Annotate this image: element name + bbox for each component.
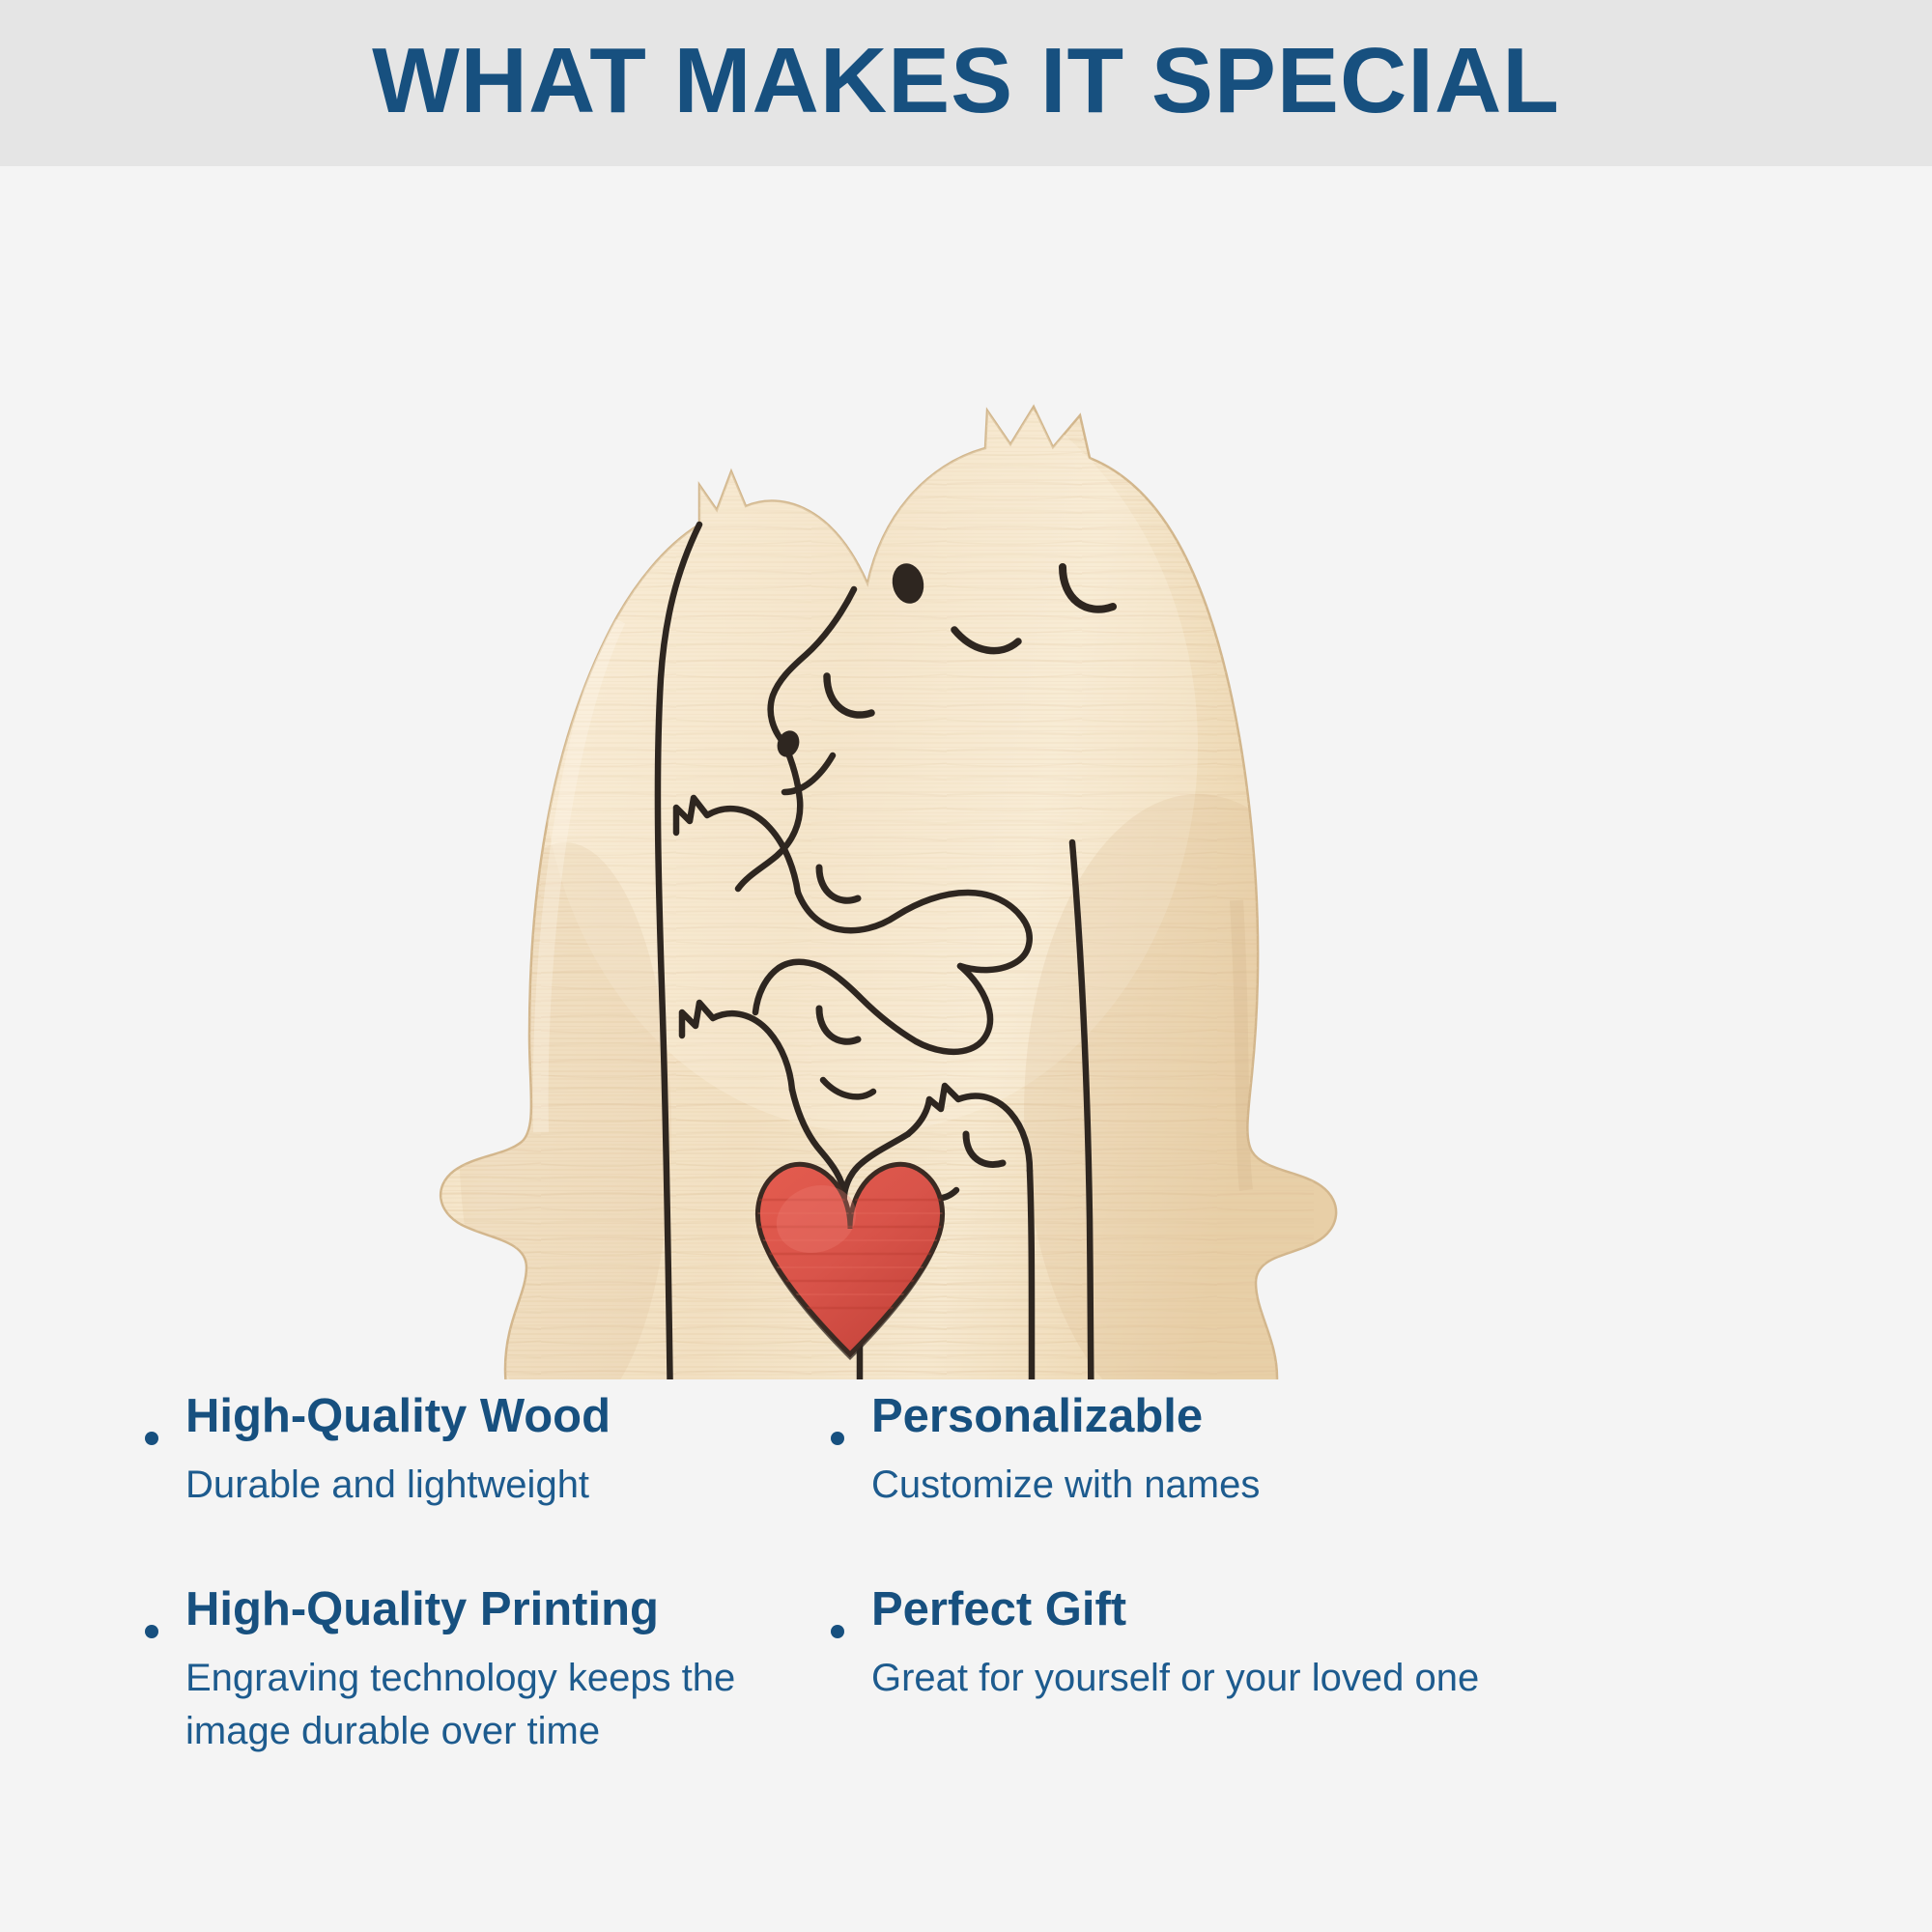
feature-title: High-Quality Printing — [185, 1584, 804, 1636]
feature-personalizable: Personalizable Customize with names — [831, 1391, 1787, 1584]
bullet-dot-icon — [145, 1625, 158, 1638]
feature-title: High-Quality Wood — [185, 1391, 611, 1443]
wooden-bear-family-puzzle-illustration — [0, 166, 1932, 1379]
feature-description: Engraving technology keeps the image dur… — [185, 1652, 804, 1758]
features-grid: High-Quality Wood Durable and lightweigh… — [0, 1391, 1932, 1932]
feature-perfect-gift: Perfect Gift Great for yourself or your … — [831, 1584, 1787, 1758]
feature-high-quality-wood: High-Quality Wood Durable and lightweigh… — [145, 1391, 831, 1584]
feature-description: Customize with names — [871, 1459, 1260, 1512]
header-band: WHAT MAKES IT SPECIAL — [0, 0, 1932, 166]
feature-description: Great for yourself or your loved one — [871, 1652, 1479, 1705]
bullet-dot-icon — [145, 1432, 158, 1445]
page-title: WHAT MAKES IT SPECIAL — [372, 35, 1560, 128]
carve-lower-right-cub-body — [1030, 1171, 1032, 1379]
bullet-dot-icon — [831, 1432, 844, 1445]
feature-high-quality-printing: High-Quality Printing Engraving technolo… — [145, 1584, 831, 1758]
bullet-dot-icon — [831, 1625, 844, 1638]
feature-title: Personalizable — [871, 1391, 1260, 1443]
feature-description: Durable and lightweight — [185, 1459, 611, 1512]
product-image-stage — [0, 166, 1932, 1379]
feature-title: Perfect Gift — [871, 1584, 1479, 1636]
